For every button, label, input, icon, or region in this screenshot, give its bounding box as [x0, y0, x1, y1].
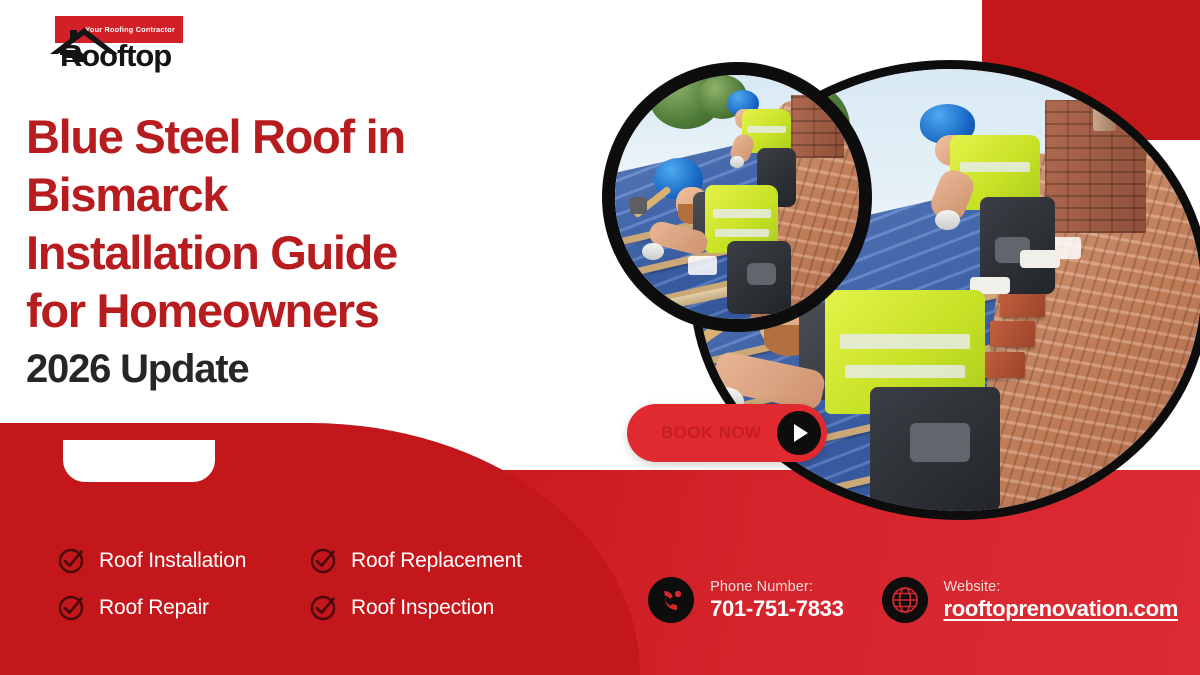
- service-label: Roof Replacement: [351, 549, 522, 573]
- play-icon[interactable]: [777, 411, 821, 455]
- banner-canvas: Your Roofing Contractor Rooftop Blue Ste…: [0, 0, 1200, 675]
- website-value[interactable]: rooftoprenovation.com: [944, 596, 1178, 622]
- book-now-label: BOOK NOW: [661, 423, 761, 443]
- list-item[interactable]: Roof Inspection: [310, 594, 562, 621]
- inset-photo: [602, 62, 872, 332]
- phone-label: Phone Number:: [710, 579, 843, 595]
- headline-line-4: for Homeowners: [26, 282, 606, 340]
- list-item[interactable]: Roof Replacement: [310, 547, 562, 574]
- headline-line-2: Bismarck: [26, 166, 606, 224]
- brand-logo[interactable]: Your Roofing Contractor Rooftop: [22, 14, 182, 80]
- logo-wordmark: Rooftop: [60, 40, 171, 71]
- headline-subline: 2026 Update: [26, 344, 606, 394]
- website-label: Website:: [944, 579, 1178, 595]
- service-label: Roof Inspection: [351, 596, 494, 620]
- phone-icon: [648, 577, 694, 623]
- service-label: Roof Installation: [99, 549, 246, 573]
- services-list: Roof Installation Roof Replacement Roof …: [58, 547, 562, 621]
- headline-line-1: Blue Steel Roof in: [26, 108, 606, 166]
- website-block[interactable]: Website: rooftoprenovation.com: [882, 577, 1178, 623]
- check-circle-icon: [310, 547, 337, 574]
- check-circle-icon: [58, 547, 85, 574]
- phone-block[interactable]: Phone Number: 701-751-7833: [648, 577, 843, 623]
- globe-icon: [882, 577, 928, 623]
- book-now-button[interactable]: BOOK NOW: [627, 404, 827, 462]
- check-circle-icon: [58, 594, 85, 621]
- contact-bar: Phone Number: 701-751-7833 Website: roof…: [648, 577, 1178, 623]
- list-item[interactable]: Roof Installation: [58, 547, 310, 574]
- service-label: Roof Repair: [99, 596, 209, 620]
- band-white-notch: [63, 440, 215, 482]
- list-item[interactable]: Roof Repair: [58, 594, 310, 621]
- phone-value[interactable]: 701-751-7833: [710, 596, 843, 622]
- page-title: Blue Steel Roof in Bismarck Installation…: [26, 108, 606, 394]
- headline-line-3: Installation Guide: [26, 224, 606, 282]
- check-circle-icon: [310, 594, 337, 621]
